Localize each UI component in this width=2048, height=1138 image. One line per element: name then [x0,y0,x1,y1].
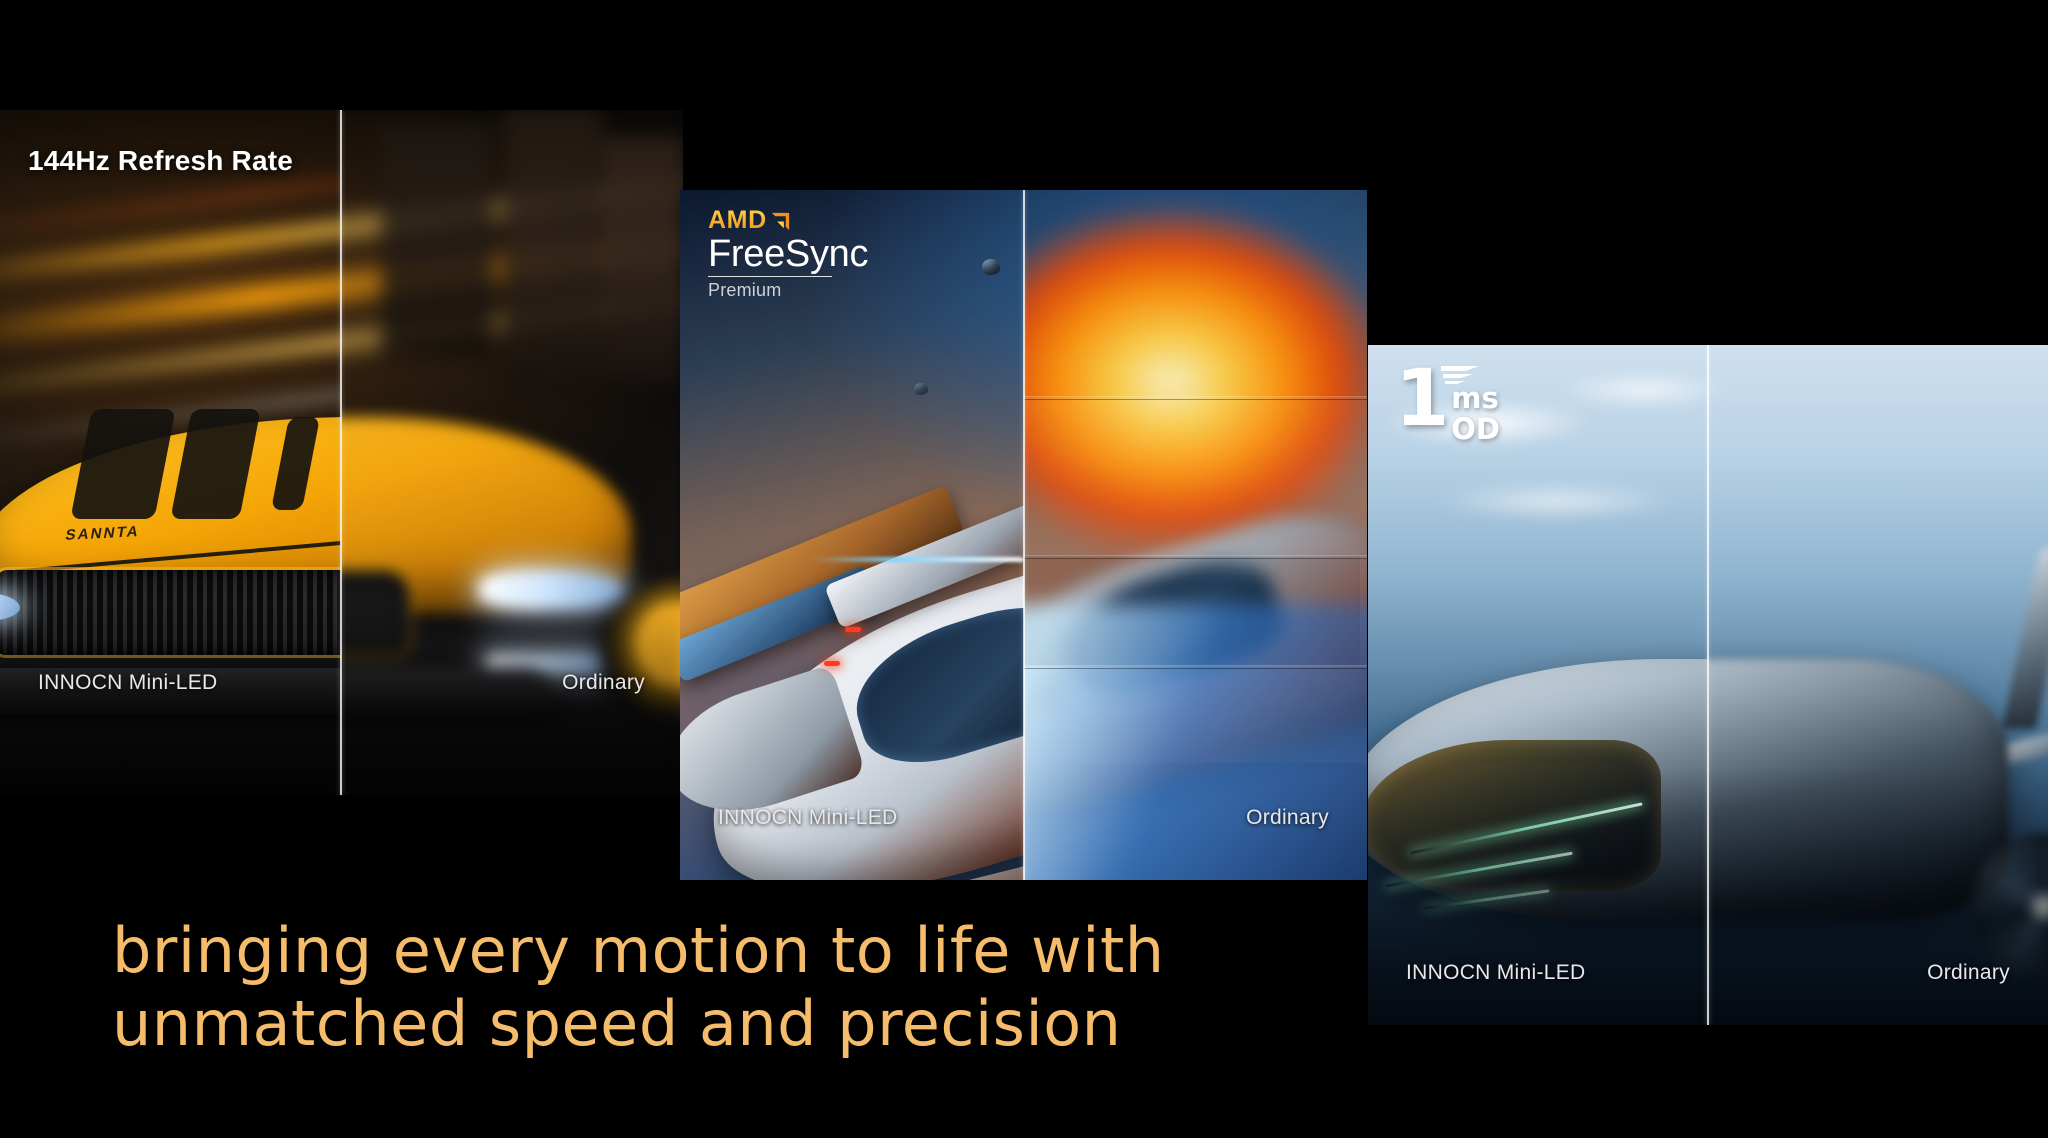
amd-freesync-premium-logo: AMD FreeSync Premium [708,208,868,301]
tagline-line-2: unmatched speed and precision [112,989,1165,1058]
screen-tear-seam [1024,556,1367,558]
speed-lines-icon [1439,364,1493,390]
panel-ship-ordinary-label: Ordinary [1246,806,1329,830]
amd-brand-text: AMD [708,208,767,233]
panel-ship-divider [1023,190,1025,880]
overdrive-mode-label: OD [1451,415,1500,444]
panel-car-divider [340,110,342,795]
marketing-banner: SANNTA [0,0,2048,1138]
response-time-badge: 1 ms OD [1395,368,1500,444]
panel-jet-ordinary-label: Ordinary [1927,961,2010,985]
panel-car-premium-label: INNOCN Mini-LED [38,671,218,695]
car-hood-badge: SANNTA [64,524,141,543]
panel-ship-premium-label: INNOCN Mini-LED [718,806,898,830]
refresh-rate-comparison-panel: SANNTA [0,110,683,795]
panel-jet-premium-half [1368,345,1708,1025]
spacecraft-illustration [680,342,1024,880]
panel-car-ordinary-label: Ordinary [562,671,645,695]
panel-jet-ordinary-half [1708,345,2048,1025]
freesync-product-text: FreeSync [708,235,868,275]
tagline-line-1: bringing every motion to life with [112,916,1165,985]
response-time-comparison-panel: INNOCN Mini-LED Ordinary [1368,345,2048,1025]
screen-tear-seam [1024,666,1367,668]
screen-tear-seam [1024,397,1367,399]
refresh-rate-label: 144Hz Refresh Rate [28,145,293,177]
freesync-tier-text: Premium [708,280,868,301]
panel-jet-premium-label: INNOCN Mini-LED [1406,961,1586,985]
freesync-rule [708,276,832,277]
tagline: bringing every motion to life with unmat… [112,916,1165,1059]
panel-ship-ordinary-half [1024,190,1367,880]
amd-arrow-icon [769,210,792,233]
panel-jet-divider [1707,345,1709,1025]
